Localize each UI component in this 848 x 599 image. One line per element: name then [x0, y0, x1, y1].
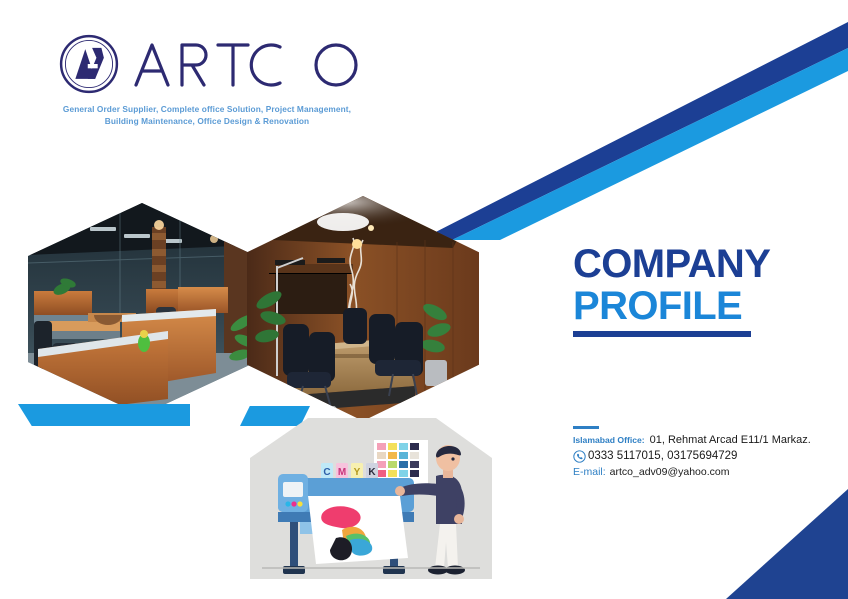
artco-monogram-icon [58, 33, 120, 95]
page-title: COMPANY PROFILE [573, 243, 833, 337]
office-cubicles-photo [28, 203, 256, 415]
contact-top-rule [573, 426, 599, 429]
title-line-profile: PROFILE [573, 285, 833, 327]
svg-text:M: M [338, 467, 346, 478]
phone-icon [573, 450, 586, 463]
tagline-line-1: General Order Supplier, Complete office … [62, 104, 352, 116]
contact-address-line: Islamabad Office: 01, Rehmat Arcad E11/1… [573, 432, 835, 448]
svg-text:Y: Y [354, 467, 361, 478]
email-address: artco_adv09@yahoo.com [610, 464, 730, 480]
svg-text:C: C [323, 467, 330, 478]
contact-phone-line[interactable]: 0333 5117015, 03175694729 [573, 448, 835, 464]
artco-wordmark [130, 33, 380, 95]
svg-text:K: K [368, 467, 376, 478]
left-photo-accent-bar [18, 404, 190, 426]
office-address: 01, Rehmat Arcad E11/1 Markaz. [650, 432, 811, 448]
brand-tagline: General Order Supplier, Complete office … [62, 104, 352, 127]
ribbon-blue-stripe [452, 48, 848, 240]
ribbon-navy-stripe [420, 22, 848, 240]
cover-page: General Order Supplier, Complete office … [0, 0, 848, 599]
phone-number: 0333 5117015, 03175694729 [588, 448, 737, 464]
title-line-company: COMPANY [573, 243, 833, 285]
title-underline-rule [573, 331, 751, 337]
email-label: E-mail: [573, 464, 606, 480]
office-label: Islamabad Office: [573, 432, 645, 448]
conference-room-photo [247, 196, 479, 421]
large-format-printer-illustration: C M Y K [250, 418, 492, 599]
brand-logo-block: General Order Supplier, Complete office … [58, 30, 388, 127]
tagline-line-2: Building Maintenance, Office Design & Re… [62, 116, 352, 128]
corner-triangle-decoration [726, 471, 848, 599]
